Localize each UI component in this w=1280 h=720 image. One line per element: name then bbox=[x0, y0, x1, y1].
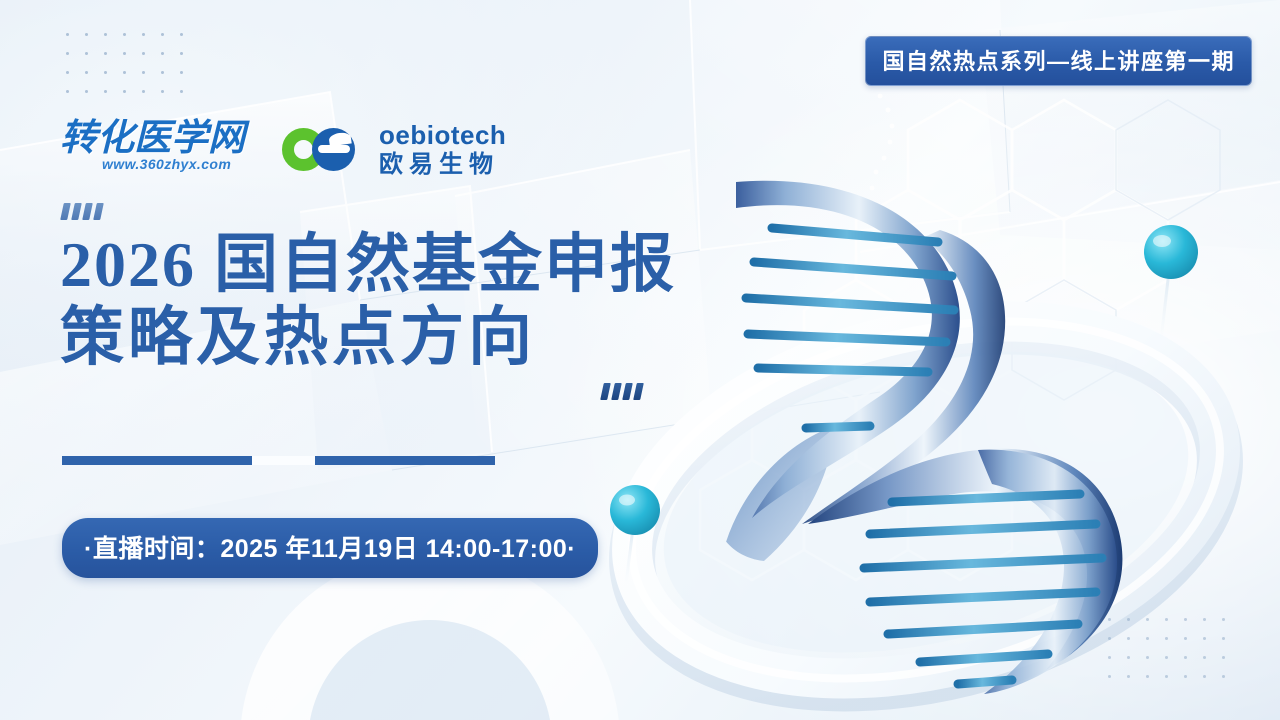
grid-dot bbox=[180, 90, 183, 93]
grid-dot bbox=[1203, 637, 1206, 640]
dot-grid-top-left bbox=[66, 33, 183, 93]
divider-segment-right bbox=[315, 456, 495, 465]
grid-dot bbox=[142, 71, 145, 74]
grid-dot bbox=[85, 52, 88, 55]
bar-motif-above-title bbox=[62, 203, 102, 220]
grid-dot bbox=[123, 52, 126, 55]
grid-dot bbox=[1165, 656, 1168, 659]
grid-dot bbox=[1146, 675, 1149, 678]
grid-dot bbox=[1108, 675, 1111, 678]
accent-bar bbox=[71, 203, 82, 220]
accent-bar bbox=[82, 203, 93, 220]
grid-dot bbox=[1127, 637, 1130, 640]
zhyx-logo-url: www.360zhyx.com bbox=[102, 156, 231, 172]
grid-dot bbox=[66, 52, 69, 55]
grid-dot bbox=[1222, 656, 1225, 659]
grid-dot bbox=[161, 90, 164, 93]
title-divider bbox=[62, 456, 495, 465]
grid-dot bbox=[142, 52, 145, 55]
grid-dot bbox=[1203, 618, 1206, 621]
grid-dot bbox=[1222, 675, 1225, 678]
grid-dot bbox=[1184, 637, 1187, 640]
grid-dot bbox=[85, 71, 88, 74]
grid-dot bbox=[66, 90, 69, 93]
grid-dot bbox=[66, 71, 69, 74]
series-badge: 国自然热点系列—线上讲座第一期 bbox=[865, 36, 1252, 86]
live-schedule-pill: ·直播时间：2025 年11月19日 14:00-17:00· bbox=[62, 518, 598, 578]
grid-dot bbox=[1165, 637, 1168, 640]
webinar-poster: 国自然热点系列—线上讲座第一期 转化医学网 www.360zhyx.com oe… bbox=[0, 0, 1280, 720]
grid-dot bbox=[1127, 618, 1130, 621]
dot-grid-bottom-right bbox=[1108, 618, 1225, 678]
grid-dot bbox=[104, 52, 107, 55]
grid-dot bbox=[104, 90, 107, 93]
oebiotech-wordmark: oebiotech 欧易生物 bbox=[379, 122, 506, 177]
grid-dot bbox=[123, 33, 126, 36]
molecule-node-right bbox=[1144, 225, 1198, 340]
divider-gap bbox=[252, 456, 315, 465]
logo-group: 转化医学网 www.360zhyx.com oebiotech 欧易生物 bbox=[60, 118, 506, 180]
grid-dot bbox=[123, 71, 126, 74]
divider-segment-left bbox=[62, 456, 252, 465]
grid-dot bbox=[85, 90, 88, 93]
zhyx-logo-name: 转化医学网 bbox=[60, 118, 260, 158]
grid-dot bbox=[1222, 618, 1225, 621]
grid-dot bbox=[180, 33, 183, 36]
grid-dot bbox=[1108, 637, 1111, 640]
grid-dot bbox=[161, 33, 164, 36]
grid-dot bbox=[1203, 675, 1206, 678]
grid-dot bbox=[1165, 618, 1168, 621]
grid-dot bbox=[104, 33, 107, 36]
grid-dot bbox=[104, 71, 107, 74]
oebiotech-logo[interactable]: oebiotech 欧易生物 bbox=[282, 122, 506, 177]
oebiotech-mark-icon bbox=[282, 126, 368, 172]
grid-dot bbox=[1108, 656, 1111, 659]
grid-dot bbox=[1127, 656, 1130, 659]
grid-dot bbox=[1203, 656, 1206, 659]
grid-dot bbox=[1146, 656, 1149, 659]
grid-dot bbox=[1222, 637, 1225, 640]
grid-dot bbox=[1127, 675, 1130, 678]
grid-dot bbox=[1108, 618, 1111, 621]
grid-dot bbox=[1184, 618, 1187, 621]
grid-dot bbox=[1146, 637, 1149, 640]
grid-dot bbox=[180, 71, 183, 74]
grid-dot bbox=[123, 90, 126, 93]
oe-e-bar-icon bbox=[318, 145, 350, 153]
grid-dot bbox=[142, 33, 145, 36]
grid-dot bbox=[85, 33, 88, 36]
grid-dot bbox=[142, 90, 145, 93]
grid-dot bbox=[66, 33, 69, 36]
accent-bar bbox=[60, 203, 71, 220]
grid-dot bbox=[1184, 656, 1187, 659]
zhyx-logo[interactable]: 转化医学网 www.360zhyx.com bbox=[60, 118, 260, 180]
grid-dot bbox=[1184, 675, 1187, 678]
grid-dot bbox=[161, 71, 164, 74]
oebiotech-name-en: oebiotech bbox=[379, 122, 506, 148]
grid-dot bbox=[180, 52, 183, 55]
grid-dot bbox=[1146, 618, 1149, 621]
grid-dot bbox=[1165, 675, 1168, 678]
grid-dot bbox=[161, 52, 164, 55]
oebiotech-name-cn: 欧易生物 bbox=[379, 153, 506, 177]
